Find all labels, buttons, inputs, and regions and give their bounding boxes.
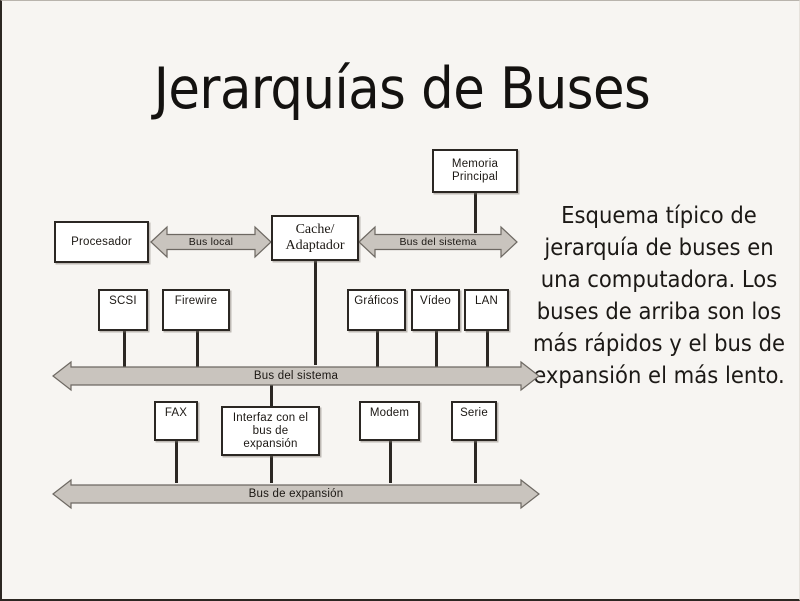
bus-local-arrow: Bus local xyxy=(150,223,272,261)
box-interfaz-bus-expansion[interactable]: Interfaz con el bus de expansión xyxy=(221,406,320,456)
box-scsi[interactable]: SCSI xyxy=(98,289,148,331)
box-lan-label: LAN xyxy=(466,291,507,308)
box-video-label: Vídeo xyxy=(413,291,458,308)
connector-cache-to-bus-sistema xyxy=(314,261,317,365)
box-fax[interactable]: FAX xyxy=(154,401,198,441)
bus-sistema-top-shape xyxy=(358,223,518,261)
box-cache-adaptador-label: Cache/ Adaptador xyxy=(285,222,344,254)
bus-expansion-arrow: Bus de expansión xyxy=(52,477,540,511)
bus-sistema-top-arrow: Bus del sistema xyxy=(358,223,518,261)
box-memoria-principal-label: Memoria Principal xyxy=(452,158,498,184)
box-firewire-label: Firewire xyxy=(164,291,228,308)
box-procesador[interactable]: Procesador xyxy=(54,221,149,263)
box-serie-label: Serie xyxy=(453,403,495,420)
box-fax-label: FAX xyxy=(156,403,196,420)
box-interfaz-bus-expansion-label: Interfaz con el bus de expansión xyxy=(233,412,308,451)
box-modem-label: Modem xyxy=(361,403,418,420)
box-firewire[interactable]: Firewire xyxy=(162,289,230,331)
bus-local-shape xyxy=(150,223,272,261)
slide-canvas: Jerarquías de Buses Esquema típico de je… xyxy=(0,0,800,601)
caption-text: Esquema típico de jerarquía de buses en … xyxy=(530,199,788,391)
box-graficos-label: Gráficos xyxy=(349,291,404,308)
box-serie[interactable]: Serie xyxy=(451,401,497,441)
box-scsi-label: SCSI xyxy=(100,291,146,308)
box-video[interactable]: Vídeo xyxy=(411,289,460,331)
bus-sistema-main-arrow: Bus del sistema xyxy=(52,359,540,393)
box-modem[interactable]: Modem xyxy=(359,401,420,441)
page-title: Jerarquías de Buses xyxy=(2,56,800,122)
bus-expansion-shape xyxy=(52,477,540,511)
box-lan[interactable]: LAN xyxy=(464,289,509,331)
box-memoria-principal[interactable]: Memoria Principal xyxy=(432,149,518,193)
bus-sistema-main-shape xyxy=(52,359,540,393)
box-cache-adaptador[interactable]: Cache/ Adaptador xyxy=(271,215,359,261)
box-procesador-label: Procesador xyxy=(71,236,132,249)
box-graficos[interactable]: Gráficos xyxy=(347,289,406,331)
